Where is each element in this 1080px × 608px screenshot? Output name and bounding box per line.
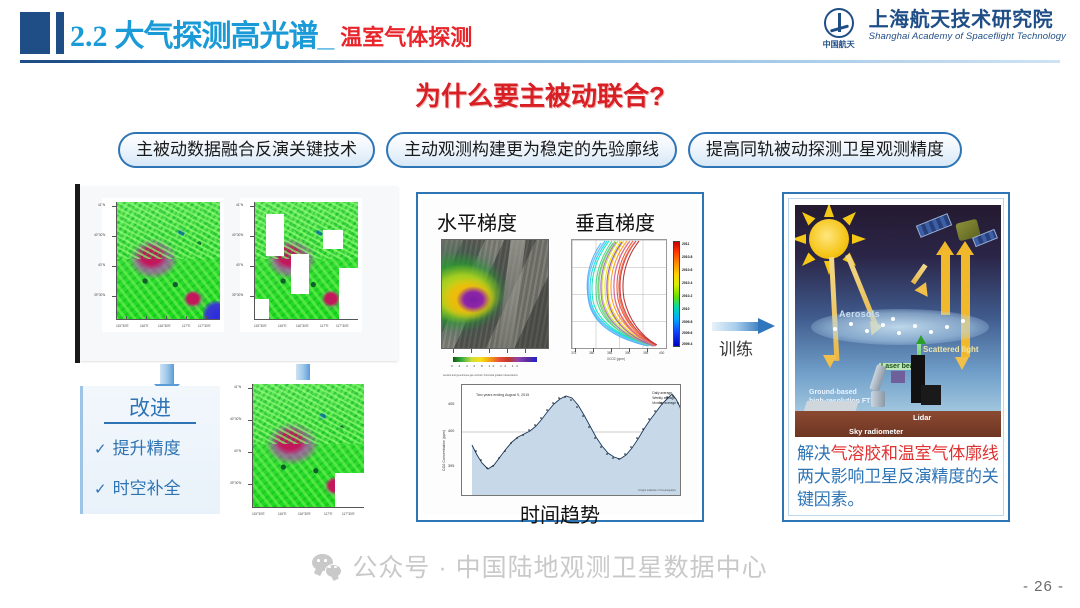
vertical-gradient-title: 垂直梯度 (575, 207, 655, 236)
logo-emblem: 中国航天 (816, 8, 862, 50)
co2-ylabel: CO2 Concentration (ppm) (442, 430, 446, 471)
title-main: 大气探测高光谱 (115, 11, 318, 55)
vcbar-label-2: 2010.6 (682, 268, 692, 272)
title-sub: 温室气体探测 (340, 20, 472, 52)
horizontal-colorbar-ticks: 0 2 4 6 8 10 12 14 (451, 364, 520, 368)
label-sky-radiometer: Sky radiometer (849, 427, 903, 436)
check-icon: ✓ (94, 481, 107, 498)
vcbar-label-0: 2011 (682, 242, 689, 246)
pill-item-3[interactable]: 提高同轨被动探测卫星观测精度 (688, 132, 962, 168)
vertical-gradient-plot: 375 380 385 390 395 400 XCO2 (ppm) (571, 239, 667, 349)
page-title: 2.2 大气探测高光谱 _ 温室气体探测 (70, 11, 472, 55)
improvement-title: 改进 (80, 392, 220, 422)
vcbar-label-1: 2010.8 (682, 255, 692, 259)
landcover-map-before-left: 41°N 40°30'N 40°N 39°30'N 115°30'E 116°E… (102, 198, 224, 332)
middle-panel: 水平梯度 垂直梯度 0 2 4 6 8 10 12 14 (416, 192, 704, 522)
pill-item-1[interactable]: 主被动数据融合反演关键技术 (118, 132, 375, 168)
vcbar-label-3: 2010.4 (682, 281, 692, 285)
question-heading: 为什么要主被动联合? (0, 76, 1080, 113)
label-lidar: Lidar (913, 413, 931, 422)
logo-org-en: Shanghai Academy of Spaceflight Technolo… (869, 31, 1066, 43)
organization-logo: 中国航天 上海航天技术研究院 Shanghai Academy of Space… (816, 8, 1066, 50)
label-scattered-light: Scattered light (923, 345, 979, 354)
vertical-profile-curves (571, 239, 667, 349)
label-aerosols: Aerosols (839, 309, 880, 319)
casc-emblem-icon (824, 8, 854, 38)
vcbar-label-5: 2010 (682, 307, 690, 311)
wechat-icon (312, 554, 342, 578)
page-number: - 26 - (1023, 578, 1064, 595)
horizontal-gradient-map (441, 239, 549, 349)
co2-time-series-chart: Two years ending August 9, 2015 Daily av… (461, 384, 681, 496)
arrow-right-icon (712, 318, 778, 334)
watermark: 公众号 · 中国陆地观测卫星数据中心 (0, 548, 1080, 584)
sky-radiometer-instrument (869, 364, 887, 392)
vcbar-label-8: 2009.4 (682, 342, 692, 346)
label-fts-line1: Ground-based (809, 389, 875, 398)
watermark-text: 公众号 · 中国陆地观测卫星数据中心 (352, 548, 767, 584)
middle-panel-inner: 水平梯度 垂直梯度 0 2 4 6 8 10 12 14 (423, 199, 697, 515)
pill-item-2[interactable]: 主动观测构建更为稳定的先验廓线 (386, 132, 677, 168)
conclusion-part-1: 解决 (797, 444, 831, 463)
improvement-item-1: ✓提升精度 (94, 434, 181, 459)
vcbar-label-4: 2010.2 (682, 294, 692, 298)
landcover-map-before-right: 41°N 40°30'N 40°N 39°30'N 115°30'E 116°E… (240, 198, 362, 332)
co2-chart-credit: Scripps Institution of Oceanography (638, 489, 676, 492)
conclusion-highlight: 气溶胶和温室气体廓线 (831, 444, 999, 463)
improvement-item-2-label: 时空补全 (113, 479, 181, 498)
training-arrow-group: 训练 (712, 318, 778, 360)
slide-root: 2.2 大气探测高光谱 _ 温室气体探测 中国航天 上海航天技术研究院 Shan… (0, 0, 1080, 608)
improvement-item-2: ✓时空补全 (94, 474, 181, 499)
header-accent-block (20, 12, 50, 54)
vertical-gradient-xlabel: XCO2 (ppm) (607, 357, 625, 361)
header-divider (20, 60, 1060, 63)
conclusion-text: 解决气溶胶和温室气体廓线两大影响卫星反演精度的关键因素。 (797, 443, 1001, 512)
middle-panel-caption: Aerosol and greenhouse gas vertical / ho… (443, 374, 518, 377)
logo-cn-label: 中国航天 (823, 39, 855, 50)
check-icon: ✓ (94, 441, 107, 458)
header-accent-bar (56, 12, 64, 54)
training-label: 训练 (712, 340, 760, 360)
logo-text-block: 上海航天技术研究院 Shanghai Academy of Spacefligh… (869, 8, 1066, 43)
horizontal-gradient-colorbar (453, 357, 537, 362)
improvement-underline (104, 422, 196, 424)
co2-series-svg (462, 385, 680, 495)
pill-row: 主被动数据融合反演关键技术 主动观测构建更为稳定的先验廓线 提高同轨被动探测卫星… (0, 132, 1080, 168)
co2-legend-item-3: Monthly average (652, 401, 676, 406)
co2-ytick-400: 400 (448, 429, 454, 433)
landcover-map-after: 41°N 40°30'N 40°N 39°30'N 115°30'E 116°E… (238, 380, 368, 520)
right-panel: Aerosols Scattered light Laser beam Grou… (782, 192, 1010, 522)
aerosol-layer (811, 309, 989, 345)
sun-icon (809, 219, 849, 259)
right-panel-inner: Aerosols Scattered light Laser beam Grou… (788, 198, 1004, 516)
improvement-item-1-label: 提升精度 (113, 439, 181, 458)
co2-chart-legend: Daily average Weekly average Monthly ave… (652, 391, 676, 406)
vertical-gradient-colorbar (673, 241, 680, 347)
conclusion-part-2: 两大影响卫星反演精度的关键因素。 (797, 467, 999, 509)
profile-curve-svg (571, 239, 667, 349)
vcbar-label-6: 2009.8 (682, 320, 692, 324)
scattered-up-beam-1 (941, 253, 950, 315)
solar-beam-1 (829, 257, 839, 361)
scattered-up-beam-2 (961, 253, 970, 357)
co2-ytick-405: 405 (448, 402, 454, 406)
slide-header: 2.2 大气探测高光谱 _ 温室气体探测 中国航天 上海航天技术研究院 Shan… (0, 0, 1080, 62)
title-underscore: _ (318, 20, 335, 54)
co2-chart-note: Two years ending August 9, 2015 (476, 393, 529, 397)
observation-scene-diagram: Aerosols Scattered light Laser beam Grou… (795, 205, 1001, 437)
horizontal-gradient-title: 水平梯度 (437, 207, 517, 236)
improvement-box: 改进 ✓提升精度 ✓时空补全 (80, 386, 220, 514)
logo-org-zh: 上海航天技术研究院 (869, 9, 1066, 31)
vcbar-label-7: 2009.6 (682, 331, 692, 335)
section-number: 2.2 (70, 20, 108, 54)
time-trend-title: 时间趋势 (423, 499, 697, 528)
co2-ytick-395: 395 (448, 464, 454, 468)
left-panel: 41°N 40°30'N 40°N 39°30'N 115°30'E 116°E… (62, 186, 398, 522)
